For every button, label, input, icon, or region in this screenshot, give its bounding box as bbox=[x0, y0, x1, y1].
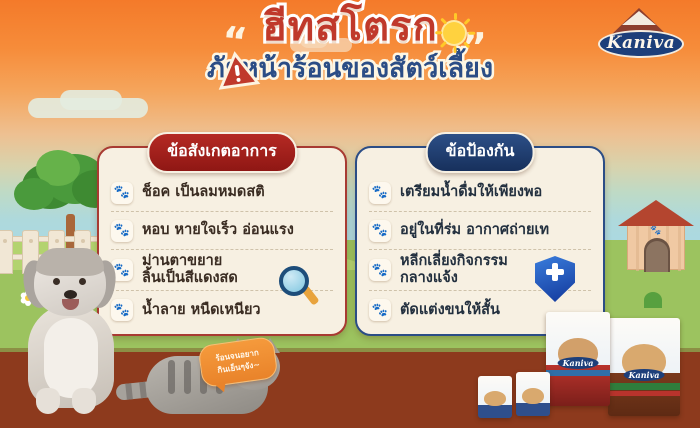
list-item[interactable]: 🐾 อยู่ในที่ร่ม อากาศถ่ายเท bbox=[369, 212, 591, 250]
shield-plus-icon bbox=[535, 256, 575, 302]
list-item-label: อยู่ในที่ร่ม อากาศถ่ายเท bbox=[400, 222, 549, 239]
kaniva-bag-cat[interactable]: Kaniva bbox=[546, 312, 610, 406]
list-item-label: ม่านตาขยาย ลิ้นเป็นสีแดงสด bbox=[142, 253, 238, 287]
list-item[interactable]: 🐾 หอบ หายใจเร็ว อ่อนแรง bbox=[111, 212, 333, 250]
prevention-list: 🐾 เตรียมน้ำดื่มให้เพียงพอ 🐾 อยู่ในที่ร่ม… bbox=[357, 174, 603, 329]
warning-triangle-icon bbox=[214, 48, 261, 89]
sun-icon bbox=[443, 22, 465, 44]
kaniva-bag-dog[interactable]: Kaniva bbox=[608, 318, 680, 416]
magnifying-glass-icon bbox=[279, 266, 323, 310]
product-brand-label: Kaniva bbox=[558, 357, 599, 369]
kaniva-pouch-small-2[interactable] bbox=[478, 376, 512, 418]
kaniva-pouch-small-1[interactable] bbox=[516, 372, 550, 416]
list-item-label: น้ำลาย หนืดเหนียว bbox=[142, 302, 261, 319]
paw-icon: 🐾 bbox=[111, 220, 133, 242]
poster-canvas: 🐾 ฮีทสโตรก ภัยหน้าร้อนของสัตว์เลี้ยง “ ” bbox=[0, 0, 700, 428]
list-item-label: เตรียมน้ำดื่มให้เพียงพอ bbox=[400, 184, 542, 201]
list-item[interactable]: 🐾 ช็อค เป็นลมหมดสติ bbox=[111, 174, 333, 212]
bush-1 bbox=[644, 292, 662, 308]
symptoms-card: ข้อสังเกตอาการ 🐾 ช็อค เป็นลมหมดสติ 🐾 หอบ… bbox=[97, 146, 347, 336]
prevention-badge: ข้อป้องกัน bbox=[426, 132, 535, 173]
list-item[interactable]: 🐾 เตรียมน้ำดื่มให้เพียงพอ bbox=[369, 174, 591, 212]
list-item-label: หลีกเลี่ยงกิจกรรม กลางแจ้ง bbox=[400, 253, 508, 287]
quote-close-mark: ” bbox=[462, 32, 487, 62]
paw-icon: 🐾 bbox=[369, 299, 391, 321]
brand-logo[interactable]: Kaniva bbox=[592, 8, 690, 60]
paw-icon: 🐾 bbox=[369, 220, 391, 242]
list-item-label: ตัดแต่งขนให้สั้น bbox=[400, 302, 500, 319]
symptoms-badge: ข้อสังเกตอาการ bbox=[147, 132, 297, 173]
list-item-label: ช็อค เป็นลมหมดสติ bbox=[142, 184, 265, 201]
paw-icon: 🐾 bbox=[111, 182, 133, 204]
list-item-label: หอบ หายใจเร็ว อ่อนแรง bbox=[142, 222, 294, 239]
product-brand-label: Kaniva bbox=[624, 369, 665, 381]
prevention-card: ข้อป้องกัน 🐾 เตรียมน้ำดื่มให้เพียงพอ 🐾 อ… bbox=[355, 146, 605, 336]
brand-name: Kaniva bbox=[592, 33, 690, 53]
paw-icon: 🐾 bbox=[369, 182, 391, 204]
paw-icon: 🐾 bbox=[369, 259, 391, 281]
